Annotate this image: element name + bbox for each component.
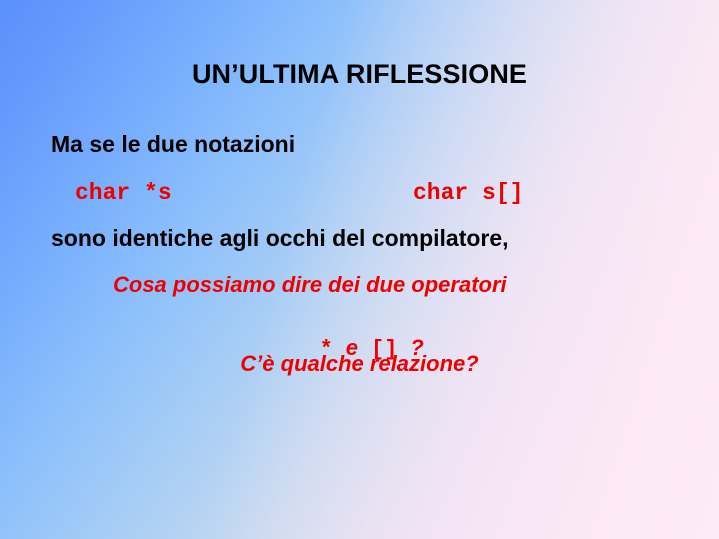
code-declarations-row: char *s char s[] xyxy=(0,180,719,208)
body-text-identiche: sono identiche agli occhi del compilator… xyxy=(51,225,509,252)
slide-canvas: UN’ULTIMA RIFLESSIONE Ma se le due notaz… xyxy=(0,0,719,539)
body-text-notazioni: Ma se le due notazioni xyxy=(51,131,295,158)
code-array-declaration: char s[] xyxy=(413,180,523,206)
question-line-operators: Cosa possiamo dire dei due operatori xyxy=(113,272,507,298)
code-pointer-declaration: char *s xyxy=(75,180,172,206)
question-line-relation: C’è qualche relazione? xyxy=(0,351,719,377)
slide-title: UN’ULTIMA RIFLESSIONE xyxy=(0,59,719,90)
